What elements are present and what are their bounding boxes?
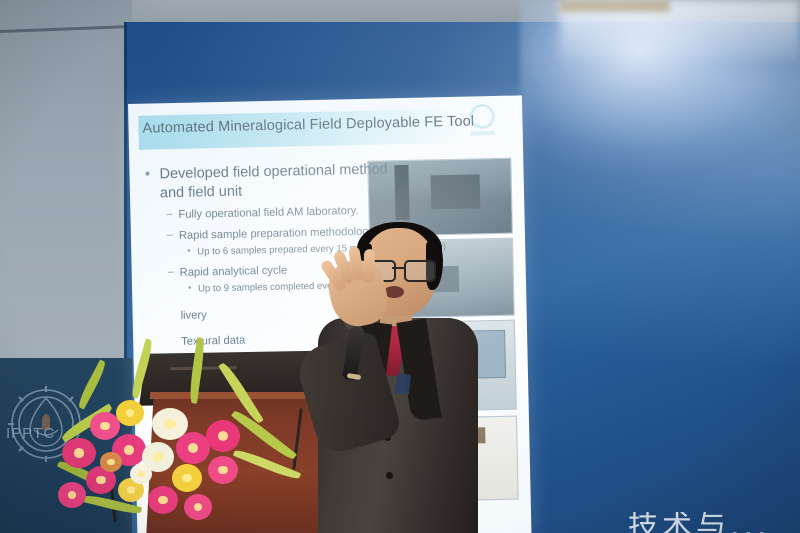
bullet-text: Textural data: [181, 335, 245, 348]
bullet-text: Fully operational field AM laboratory.: [178, 205, 358, 221]
banner-text: 技术与...: [628, 512, 800, 533]
bullet-dash-icon: –: [167, 227, 174, 244]
flower-arrangement: [56, 360, 306, 533]
upper-wall-strip: [560, 0, 670, 12]
bullet-text: livery: [180, 309, 206, 322]
side-wall: [0, 0, 132, 360]
bullet-dash-icon: –: [166, 206, 173, 223]
banner-text-bottom: 技术与...: [628, 512, 800, 533]
slide-corner-logo-icon: [460, 98, 505, 145]
presentation-photo: IPPTC Automated Mineralogical Field Depl…: [0, 0, 800, 533]
bullet-text: Rapid analytical cycle: [180, 264, 288, 278]
bullet-subdot-icon: •: [188, 282, 192, 296]
bullet-dot-icon: [145, 172, 149, 176]
bullet-level1: Developed field operational method and f…: [143, 160, 410, 204]
bullet-subdot-icon: •: [187, 245, 191, 259]
speaker: [300, 222, 490, 533]
suit-button: [386, 472, 393, 479]
bullet-text: Developed field operational method and f…: [159, 161, 387, 201]
speaker-badge: [395, 373, 411, 394]
bullet-dash-icon: –: [167, 264, 174, 281]
